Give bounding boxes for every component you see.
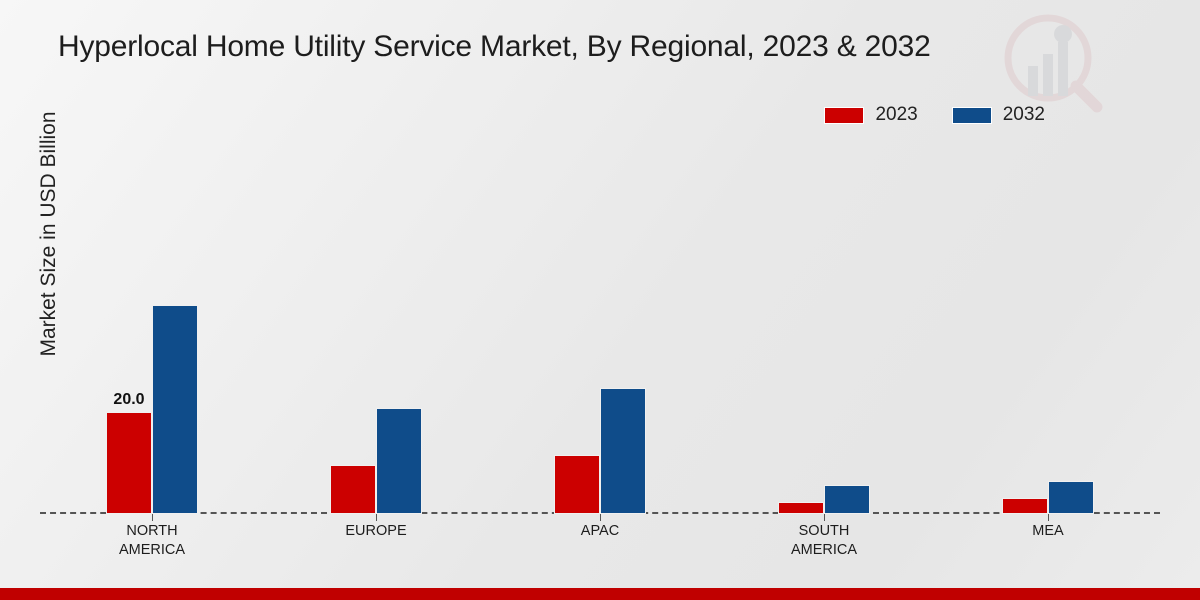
- legend-item-2032[interactable]: 2032: [952, 104, 1045, 126]
- category-label-europe: EUROPE: [264, 522, 488, 541]
- bar-north-america-2023[interactable]: 20.0: [106, 412, 152, 514]
- bottom-accent-strip: [0, 588, 1200, 600]
- legend-item-2023[interactable]: 2023: [824, 104, 917, 126]
- bar-value-north-america-2023: 20.0: [113, 391, 144, 409]
- category-label-line1: MEA: [1032, 523, 1063, 539]
- category-group-north-america: 20.0 NORTH AMERICA: [40, 150, 264, 514]
- bar-apac-2032[interactable]: [600, 388, 646, 514]
- bar-apac-2023[interactable]: [554, 455, 600, 514]
- category-label-line1: APAC: [581, 523, 619, 539]
- category-label-line1: SOUTH: [799, 523, 850, 539]
- category-label-line2: AMERICA: [40, 541, 264, 560]
- plot-area: 20.0 NORTH AMERICA EUROPE: [40, 150, 1160, 514]
- category-label-line1: EUROPE: [345, 523, 406, 539]
- category-group-mea: MEA: [936, 150, 1160, 514]
- magnifier-bar-chart-watermark-icon: [1002, 14, 1106, 118]
- bar-south-america-2032[interactable]: [824, 485, 870, 514]
- legend-swatch-icon-2023: [824, 107, 864, 124]
- category-group-apac: APAC: [488, 150, 712, 514]
- bar-south-america-2023[interactable]: [778, 502, 824, 514]
- bar-europe-2032[interactable]: [376, 408, 422, 514]
- category-label-line1: NORTH: [126, 523, 177, 539]
- category-label-line2: AMERICA: [712, 541, 936, 560]
- chart-legend: 2023 2032: [824, 104, 1045, 126]
- category-label-apac: APAC: [488, 522, 712, 541]
- bar-mea-2023[interactable]: [1002, 498, 1048, 514]
- bar-mea-2032[interactable]: [1048, 481, 1094, 514]
- x-tick-north-america: [152, 514, 153, 521]
- category-label-mea: MEA: [936, 522, 1160, 541]
- bar-europe-2023[interactable]: [330, 465, 376, 514]
- legend-label-2032: 2032: [1003, 104, 1045, 126]
- chart-container: Hyperlocal Home Utility Service Market, …: [0, 0, 1200, 600]
- x-tick-apac: [600, 514, 601, 521]
- category-label-south-america: SOUTH AMERICA: [712, 522, 936, 560]
- x-tick-south-america: [824, 514, 825, 521]
- x-tick-europe: [376, 514, 377, 521]
- category-group-europe: EUROPE: [264, 150, 488, 514]
- legend-swatch-icon-2032: [952, 107, 992, 124]
- category-group-south-america: SOUTH AMERICA: [712, 150, 936, 514]
- category-label-north-america: NORTH AMERICA: [40, 522, 264, 560]
- bar-north-america-2032[interactable]: [152, 305, 198, 514]
- chart-title: Hyperlocal Home Utility Service Market, …: [58, 30, 931, 64]
- x-tick-mea: [1048, 514, 1049, 521]
- legend-label-2023: 2023: [875, 104, 917, 126]
